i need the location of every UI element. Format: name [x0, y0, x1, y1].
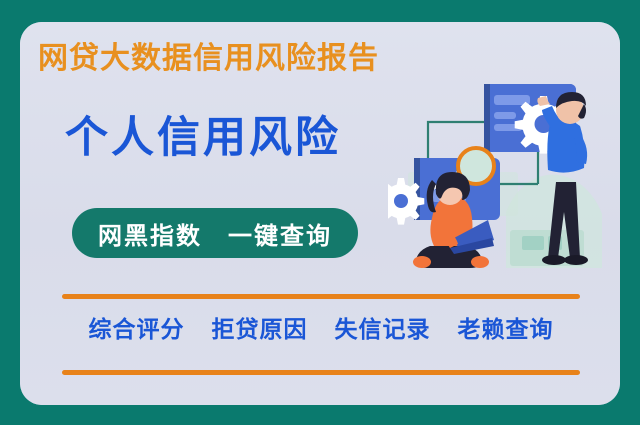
credit-risk-analysis-illustration: [388, 62, 620, 292]
subtitle: 个人信用风险: [65, 114, 341, 162]
query-cta-label: 网黑指数 一键查询: [98, 216, 332, 251]
content-panel: 网贷大数据信用风险报告 个人信用风险 网黑指数 一键查询 综合评分 拒贷原因 失…: [20, 22, 620, 405]
footer-item-default-record[interactable]: 失信记录: [335, 317, 431, 343]
footer-item-reject-reason[interactable]: 拒贷原因: [211, 317, 307, 343]
divider-bottom: [62, 370, 580, 375]
divider-top: [62, 294, 580, 299]
footer-item-score[interactable]: 综合评分: [88, 317, 184, 343]
footer-item-deadbeat-query[interactable]: 老赖查询: [458, 317, 554, 343]
query-cta-button[interactable]: 网黑指数 一键查询: [72, 208, 358, 258]
poster-root: 网贷大数据信用风险报告 个人信用风险 网黑指数 一键查询 综合评分 拒贷原因 失…: [0, 0, 640, 425]
footer-feature-list: 综合评分 拒贷原因 失信记录 老赖查询: [62, 310, 580, 344]
